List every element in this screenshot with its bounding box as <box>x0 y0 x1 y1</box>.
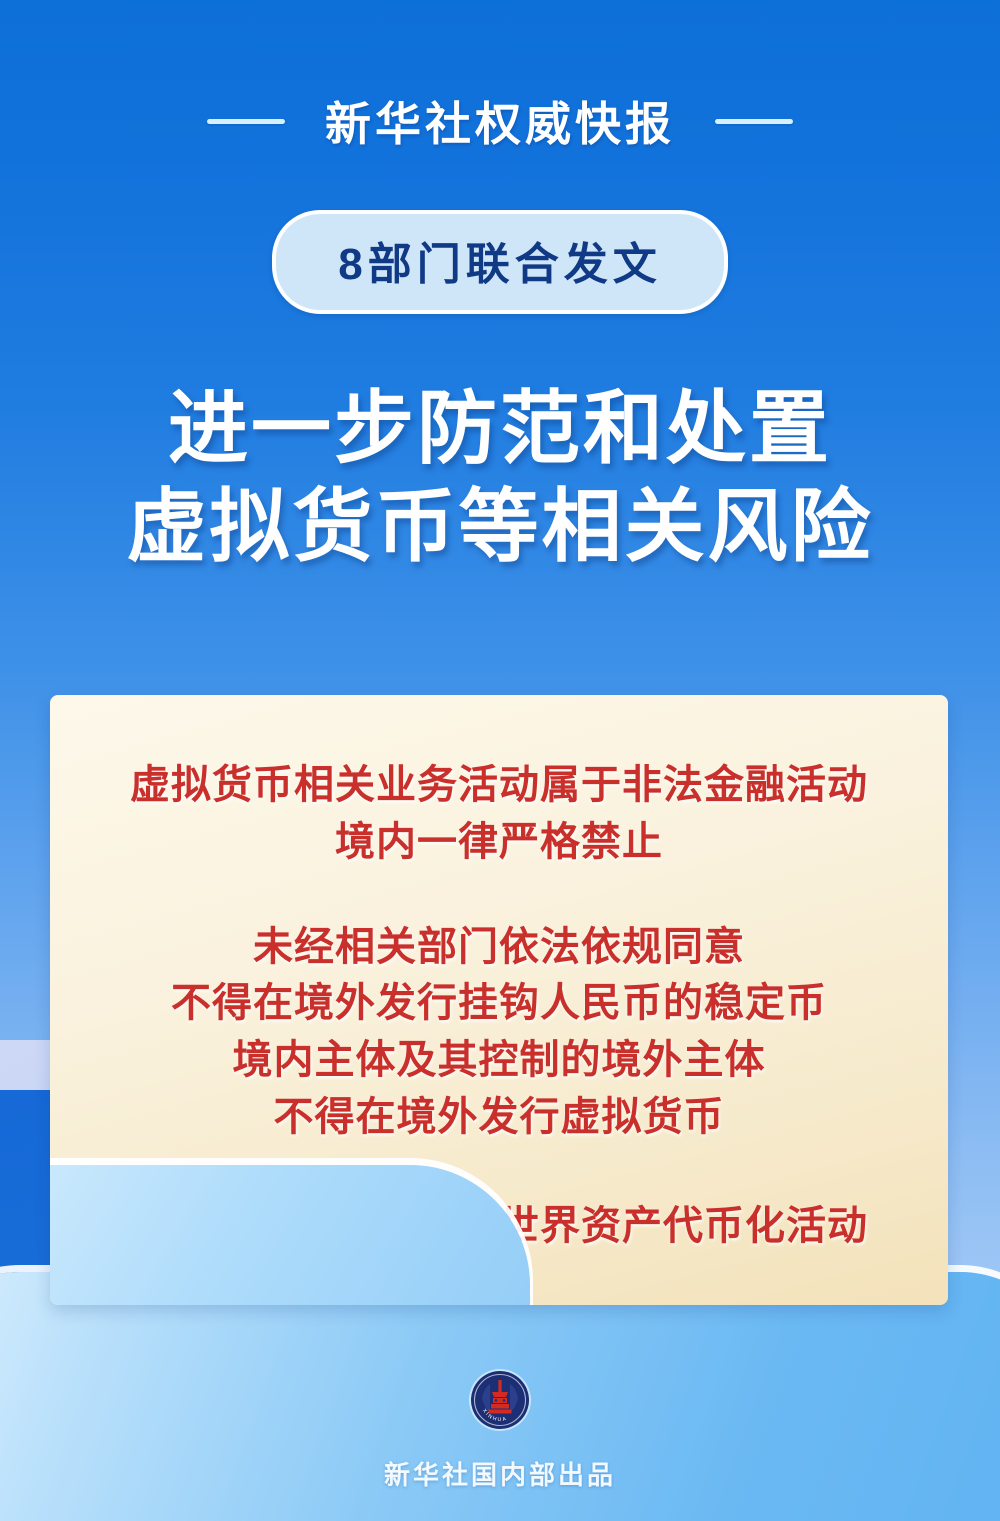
xinhua-logo-icon: XINHUA <box>468 1368 532 1432</box>
content-card: 虚拟货币相关业务活动属于非法金融活动 境内一律严格禁止 未经相关部门依法依规同意… <box>50 695 948 1305</box>
card-paragraph-2-line-4: 不得在境外发行虚拟货币 <box>50 1089 948 1146</box>
card-paragraph-2: 未经相关部门依法依规同意 不得在境外发行挂钩人民币的稳定币 境内主体及其控制的境… <box>50 919 948 1146</box>
card-paragraph-1-line-1: 虚拟货币相关业务活动属于非法金融活动 <box>50 757 948 814</box>
badge-container: 8部门联合发文 <box>0 210 1000 314</box>
page-title: 进一步防范和处置 虚拟货币等相关风险 <box>0 380 1000 575</box>
footer-credit: 新华社国内部出品 <box>0 1455 1000 1492</box>
decor-card-corner-blob <box>50 1165 530 1305</box>
card-paragraph-2-line-3: 境内主体及其控制的境外主体 <box>50 1032 948 1089</box>
poster-canvas: 新华社权威快报 8部门联合发文 进一步防范和处置 虚拟货币等相关风险 虚拟货币相… <box>0 0 1000 1521</box>
header-bar: 新华社权威快报 <box>0 88 1000 154</box>
card-paragraph-2-line-1: 未经相关部门依法依规同意 <box>50 919 948 976</box>
card-paragraph-1: 虚拟货币相关业务活动属于非法金融活动 境内一律严格禁止 <box>50 757 948 871</box>
subtitle-badge: 8部门联合发文 <box>272 210 727 314</box>
header-title: 新华社权威快报 <box>325 88 675 154</box>
rule-right-icon <box>715 119 793 124</box>
page-title-line-2: 虚拟货币等相关风险 <box>0 478 1000 576</box>
card-paragraph-1-line-2: 境内一律严格禁止 <box>50 814 948 871</box>
page-title-line-1: 进一步防范和处置 <box>0 380 1000 478</box>
card-paragraph-2-line-2: 不得在境外发行挂钩人民币的稳定币 <box>50 975 948 1032</box>
rule-left-icon <box>207 119 285 124</box>
